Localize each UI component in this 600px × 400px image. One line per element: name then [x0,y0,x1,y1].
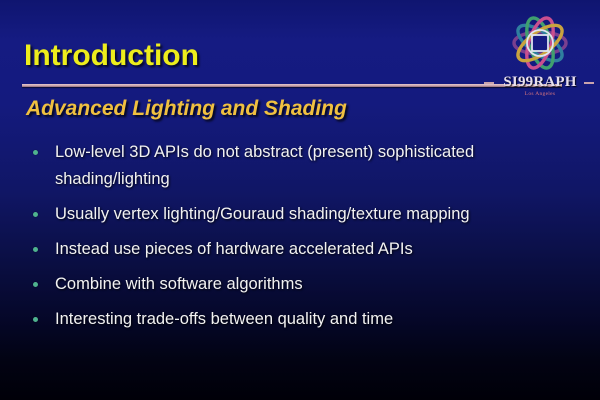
bullet-dot-icon [33,247,38,252]
logo-location-label: Los Angeles [488,91,592,97]
bullet-dot-icon [33,282,38,287]
list-item-label: Instead use pieces of hardware accelerat… [55,236,574,263]
bullet-list: Low-level 3D APIs do not abstract (prese… [26,139,574,341]
siggraph-logo: SI99RAPH Los Angeles [488,12,592,106]
list-item: Usually vertex lighting/Gouraud shading/… [26,201,574,228]
list-item: Interesting trade-offs between quality a… [26,306,574,333]
page-title: Introduction [24,39,199,73]
list-item-label: Usually vertex lighting/Gouraud shading/… [55,201,574,228]
list-item: Combine with software algorithms [26,271,574,298]
slide-canvas: Introduction Advanced Lighting and Shadi… [0,0,600,400]
siggraph-rings-icon [488,12,592,80]
bullet-dot-icon [33,150,38,155]
slide-subtitle: Advanced Lighting and Shading [26,97,347,121]
list-item-label: Interesting trade-offs between quality a… [55,306,574,333]
list-item-label: Low-level 3D APIs do not abstract (prese… [55,139,574,193]
bullet-dot-icon [33,212,38,217]
bullet-dot-icon [33,317,38,322]
logo-wordmark: SI99RAPH [488,74,592,91]
title-divider [22,84,562,87]
list-item: Low-level 3D APIs do not abstract (prese… [26,139,574,193]
list-item-label: Combine with software algorithms [55,271,574,298]
list-item: Instead use pieces of hardware accelerat… [26,236,574,263]
